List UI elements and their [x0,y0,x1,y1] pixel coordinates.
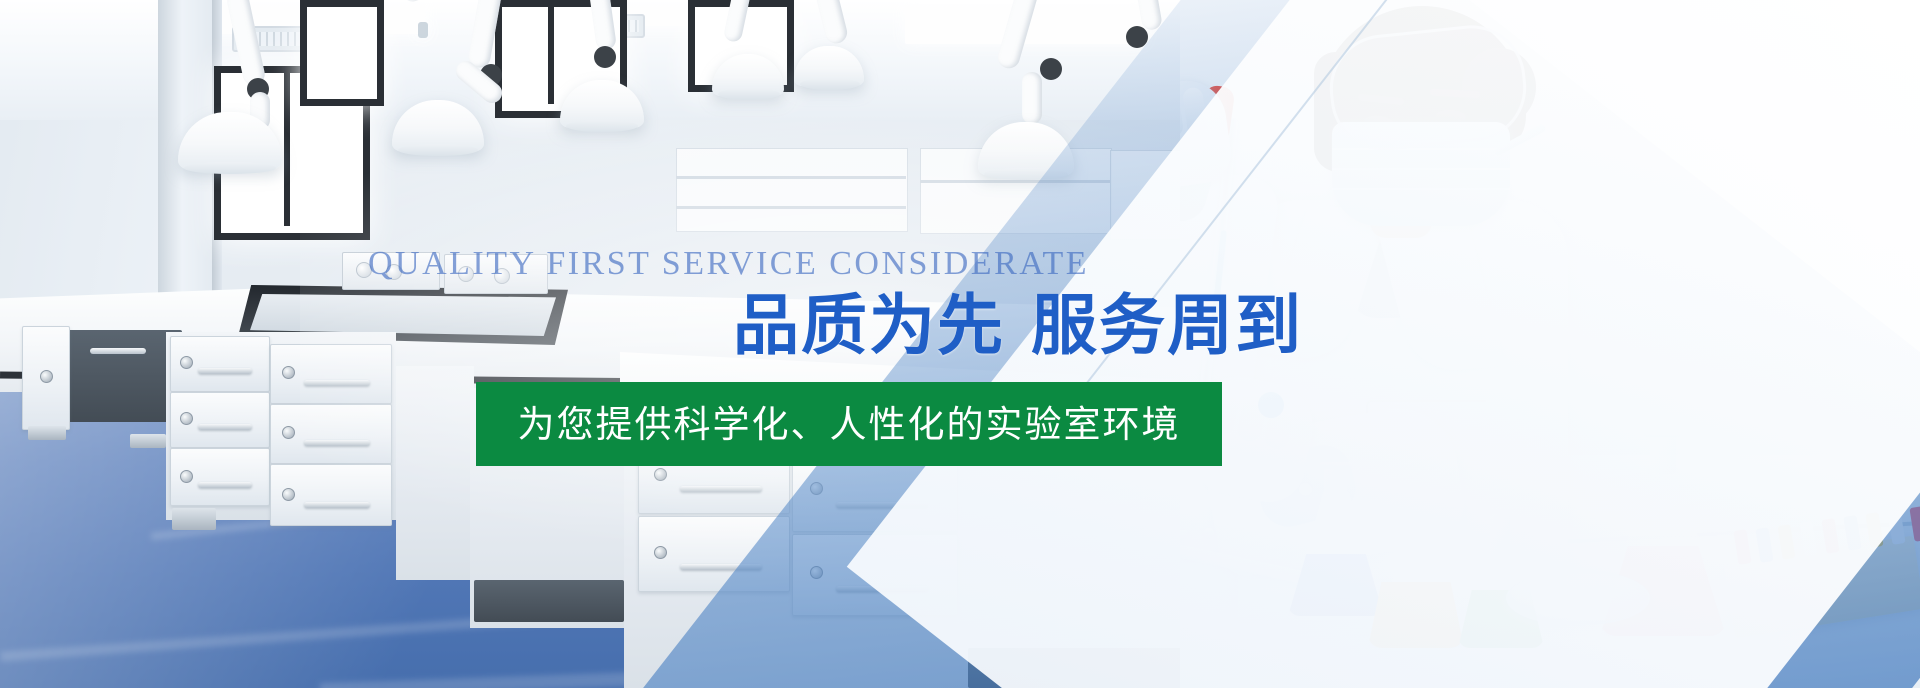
headline: 品质为先服务周到 [733,292,1303,358]
headline-part-left: 品质为先 [733,288,1005,362]
subtitle-text: 为您提供科学化、人性化的实验室环境 [518,406,1181,443]
banner-copy: QUALITY FIRST SERVICE CONSIDERATE 品质为先服务… [0,0,1920,688]
headline-part-right: 服务周到 [1031,288,1303,362]
english-tagline: QUALITY FIRST SERVICE CONSIDERATE [368,247,1089,281]
hero-banner: QUALITY FIRST SERVICE CONSIDERATE 品质为先服务… [0,0,1920,688]
subtitle-green-bar: 为您提供科学化、人性化的实验室环境 [476,382,1222,466]
